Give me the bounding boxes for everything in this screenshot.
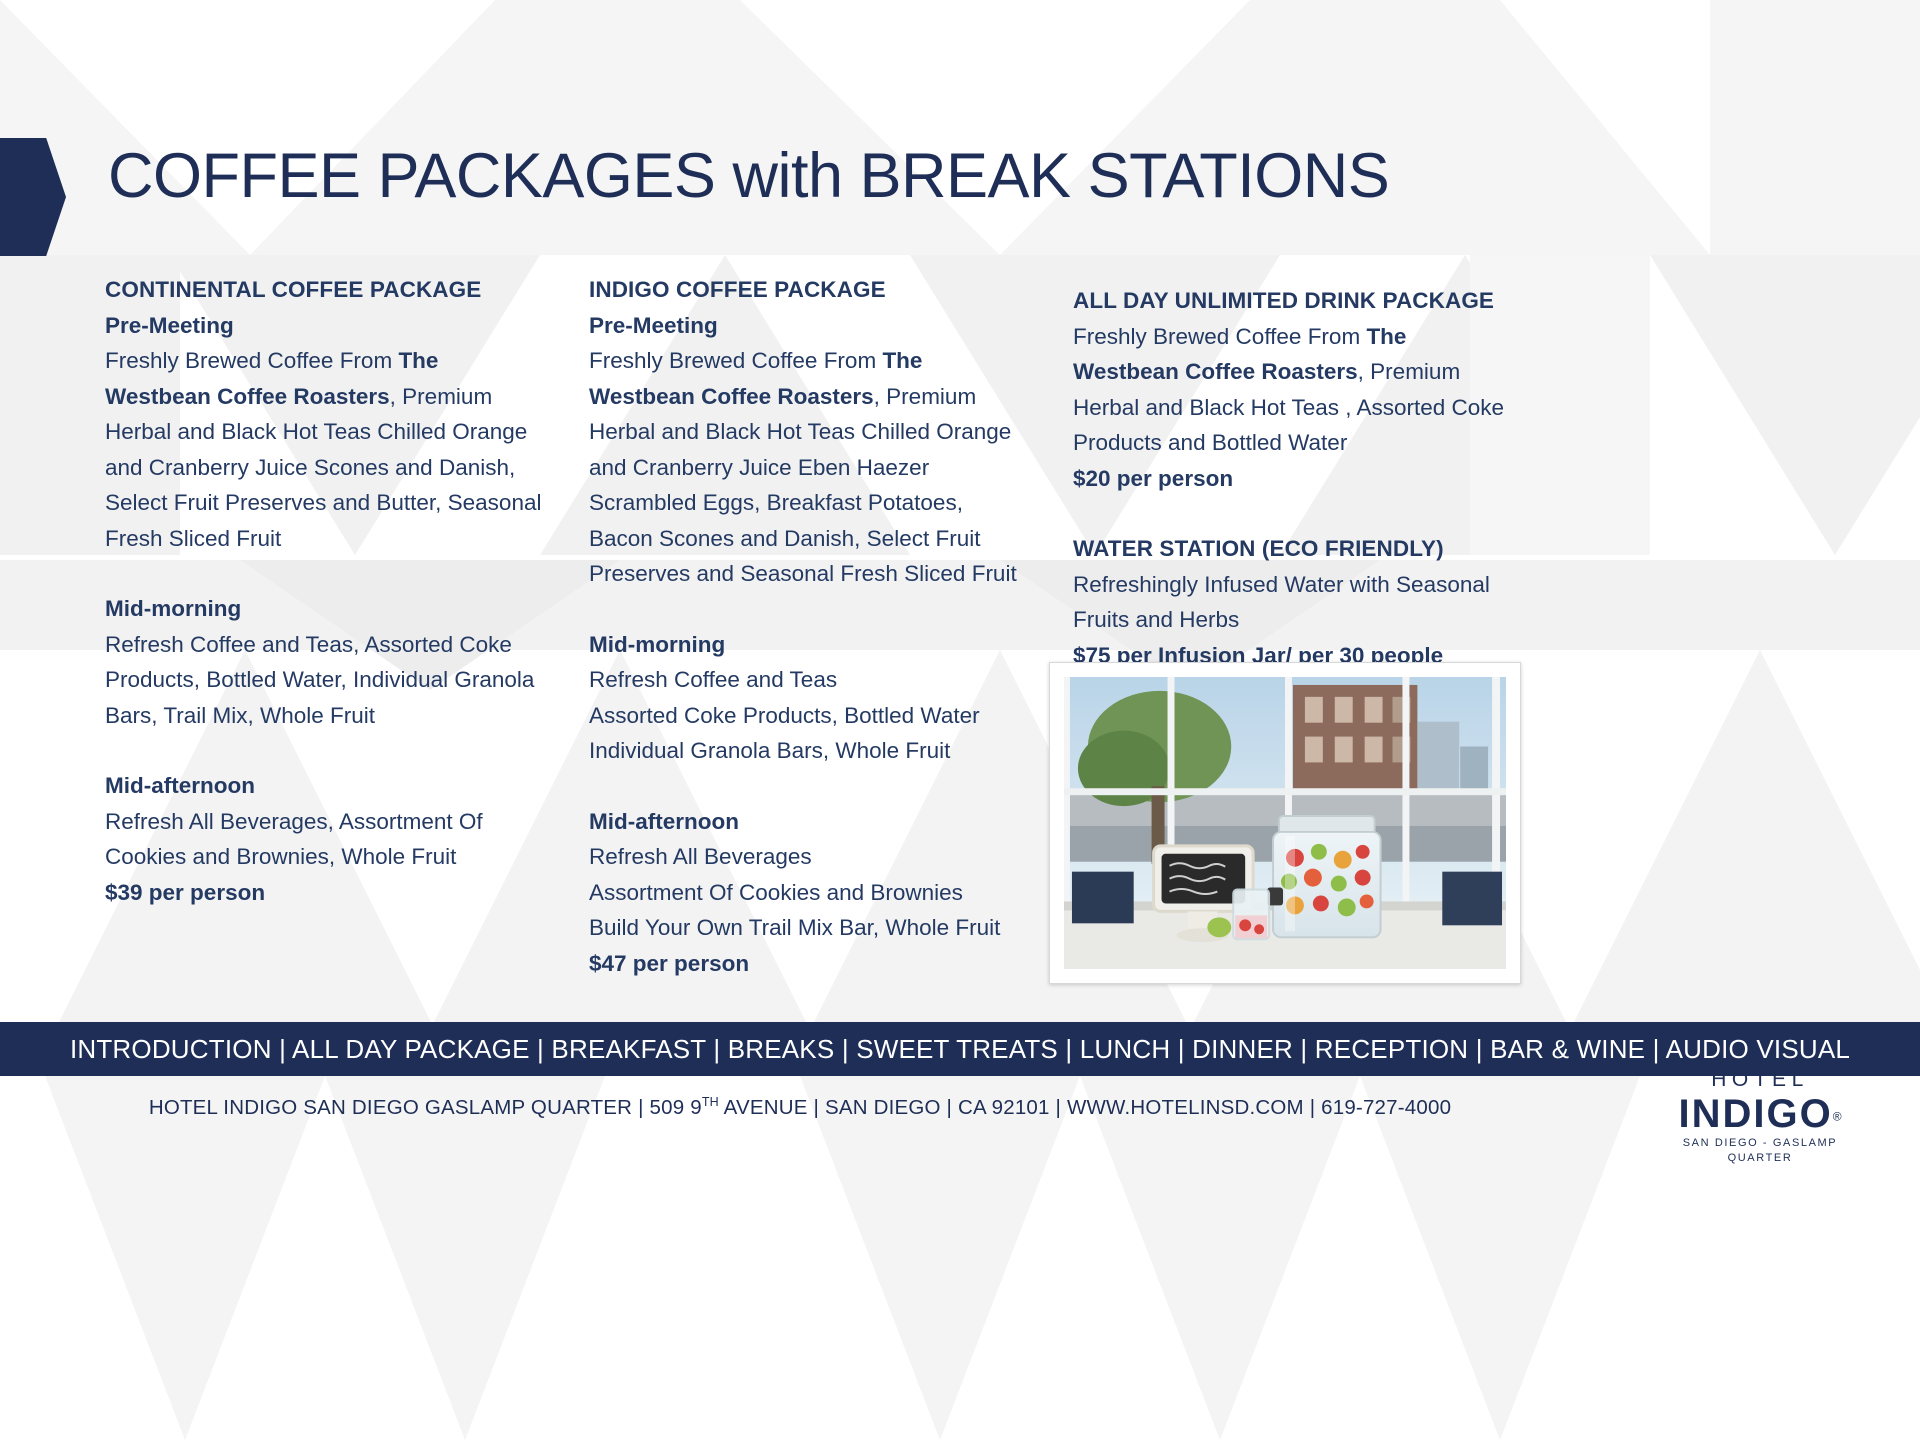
package-title-all-day-unlimited: ALL DAY UNLIMITED DRINK PACKAGE: [1073, 283, 1513, 319]
section-body-mid-morning-line-1: Refresh Coffee and Teas: [589, 662, 1019, 698]
registered-trademark-icon: ®: [1833, 1110, 1842, 1124]
pre-bold-text: Freshly Brewed Coffee From: [589, 348, 882, 373]
footer-address-part-2: AVENUE | SAN DIEGO | CA 92101 | WWW.HOTE…: [719, 1096, 1451, 1119]
price-all-day-unlimited: $20 per person: [1073, 461, 1513, 497]
infusion-jar-water-station-photo: [1064, 677, 1506, 969]
pre-bold-text: Freshly Brewed Coffee From: [105, 348, 398, 373]
infusion-jar: [1267, 816, 1380, 937]
hotel-indigo-logo: HOTEL INDIGO® SAN DIEGO - GASLAMP QUARTE…: [1655, 1068, 1865, 1166]
footer-address-part-1: HOTEL INDIGO SAN DIEGO GASLAMP QUARTER |…: [149, 1096, 702, 1119]
logo-line-location: SAN DIEGO - GASLAMP: [1655, 1136, 1865, 1151]
section-heading-mid-morning: Mid-morning: [105, 591, 545, 627]
package-title-indigo: INDIGO COFFEE PACKAGE: [589, 272, 1019, 308]
section-nav-items[interactable]: INTRODUCTION | ALL DAY PACKAGE | BREAKFA…: [0, 1022, 1920, 1076]
section-heading-mid-afternoon: Mid-afternoon: [589, 804, 1019, 840]
section-body-pre-meeting: Freshly Brewed Coffee From The Westbean …: [105, 343, 545, 556]
section-body-mid-morning-line-2: Assorted Coke Products, Bottled Water: [589, 698, 1019, 734]
section-body-pre-meeting: Freshly Brewed Coffee From The Westbean …: [589, 343, 1019, 592]
section-nav-bar[interactable]: INTRODUCTION | ALL DAY PACKAGE | BREAKFA…: [0, 1022, 1920, 1076]
logo-line-indigo-wrapper: INDIGO®: [1655, 1092, 1865, 1136]
section-spacer: [105, 733, 545, 768]
logo-line-indigo: INDIGO: [1678, 1092, 1832, 1136]
section-body-mid-afternoon-line-3: Build Your Own Trail Mix Bar, Whole Frui…: [589, 910, 1019, 946]
section-body-mid-afternoon-line-1: Refresh All Beverages: [589, 839, 1019, 875]
photo-illustration: [1064, 677, 1506, 969]
package-title-water-station: WATER STATION (ECO FRIENDLY): [1073, 531, 1513, 567]
section-spacer: [589, 592, 1019, 627]
price-continental: $39 per person: [105, 875, 545, 911]
column-continental-coffee-package: CONTINENTAL COFFEE PACKAGE Pre-Meeting F…: [105, 272, 545, 910]
section-heading-pre-meeting: Pre-Meeting: [589, 308, 1019, 344]
section-body-water-station: Refreshingly Infused Water with Seasonal…: [1073, 567, 1513, 638]
section-body-mid-morning: Refresh Coffee and Teas, Assorted Coke P…: [105, 627, 545, 734]
section-heading-mid-afternoon: Mid-afternoon: [105, 768, 545, 804]
page-title: COFFEE PACKAGES with BREAK STATIONS: [108, 140, 1389, 212]
section-body-mid-afternoon-line-2: Assortment Of Cookies and Brownies: [589, 875, 1019, 911]
footer-address: HOTEL INDIGO SAN DIEGO GASLAMP QUARTER |…: [0, 1095, 1600, 1120]
section-spacer: [105, 556, 545, 591]
column-all-day-and-water-station: ALL DAY UNLIMITED DRINK PACKAGE Freshly …: [1073, 283, 1513, 673]
price-indigo: $47 per person: [589, 946, 1019, 982]
photo-frame: [1049, 662, 1521, 984]
section-body-all-day-unlimited: Freshly Brewed Coffee From The Westbean …: [1073, 319, 1513, 461]
logo-line-quarter: QUARTER: [1655, 1151, 1865, 1166]
footer-address-ordinal-suffix: TH: [702, 1095, 719, 1109]
section-spacer: [1073, 496, 1513, 531]
section-body-mid-morning-line-3: Individual Granola Bars, Whole Fruit: [589, 733, 1019, 769]
section-heading-mid-morning: Mid-morning: [589, 627, 1019, 663]
section-body-mid-afternoon: Refresh All Beverages, Assortment Of Coo…: [105, 804, 545, 875]
post-bold-text: , Premium Herbal and Black Hot Teas Chil…: [589, 384, 1017, 587]
logo-line-hotel: HOTEL: [1655, 1068, 1865, 1092]
section-spacer: [589, 769, 1019, 804]
section-heading-pre-meeting: Pre-Meeting: [105, 308, 545, 344]
column-indigo-coffee-package: INDIGO COFFEE PACKAGE Pre-Meeting Freshl…: [589, 272, 1019, 981]
pre-bold-text: Freshly Brewed Coffee From: [1073, 324, 1366, 349]
package-title-continental: CONTINENTAL COFFEE PACKAGE: [105, 272, 545, 308]
